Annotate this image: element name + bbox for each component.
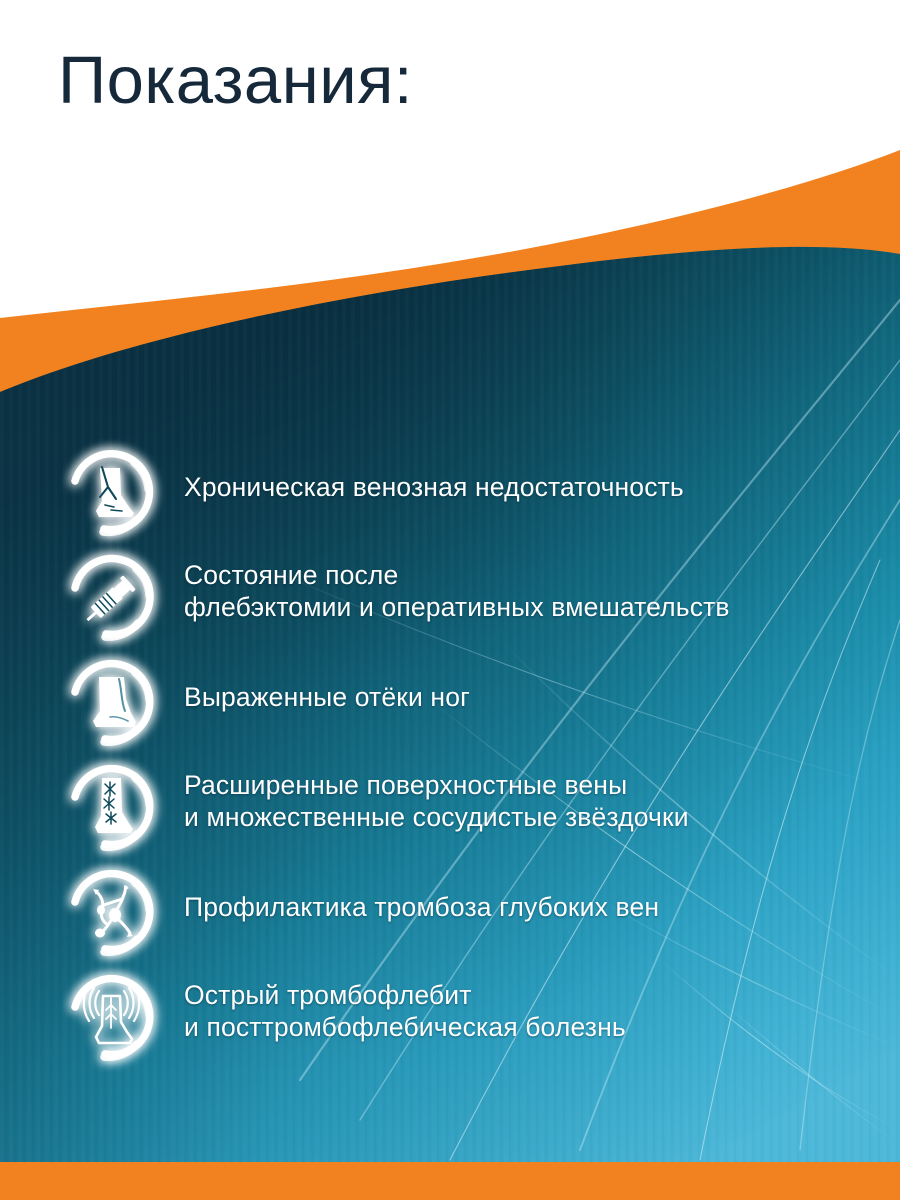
indication-line: Профилактика тромбоза глубоких вен: [184, 891, 884, 923]
leg-varicose-veins-icon-slot: [64, 440, 160, 536]
indication-line: и множественные сосудистые звёздочки: [184, 801, 884, 833]
vein-network-icon-slot: [64, 860, 160, 956]
list-item: Хроническая венозная недостаточность: [0, 440, 900, 545]
slide-root: Показания: Хроническая венозная недостат…: [0, 0, 900, 1200]
indication-text-5: Профилактика тромбоза глубоких вен: [184, 891, 884, 923]
leg-spider-veins-icon-slot: [64, 755, 160, 851]
leg-inflammation-waves-icon-slot: [64, 965, 160, 1061]
indication-text-4: Расширенные поверхностные вены и множест…: [184, 769, 884, 833]
indication-line: Расширенные поверхностные вены: [184, 769, 884, 801]
list-item: Острый тромбофлебит и посттромбофлебичес…: [0, 965, 900, 1070]
list-item: Выраженные отёки ног: [0, 650, 900, 755]
indications-list: Хроническая венозная недостаточность Сос…: [0, 440, 900, 1070]
list-item: Состояние после флебэктомии и оперативны…: [0, 545, 900, 650]
swollen-leg-icon-slot: [64, 650, 160, 746]
syringe-icon-slot: [64, 545, 160, 641]
indication-line: Состояние после: [184, 559, 884, 591]
indication-line: Острый тромбофлебит: [184, 979, 884, 1011]
indication-text-2: Состояние после флебэктомии и оперативны…: [184, 559, 884, 623]
indication-line: флебэктомии и оперативных вмешательств: [184, 591, 884, 623]
list-item: Расширенные поверхностные вены и множест…: [0, 755, 900, 860]
list-item: Профилактика тромбоза глубоких вен: [0, 860, 900, 965]
indication-line: и посттромбофлебическая болезнь: [184, 1011, 884, 1043]
footer-bar: [0, 1162, 900, 1200]
indication-text-1: Хроническая венозная недостаточность: [184, 471, 884, 503]
page-title: Показания:: [58, 46, 413, 116]
indication-text-6: Острый тромбофлебит и посттромбофлебичес…: [184, 979, 884, 1043]
indication-line: Хроническая венозная недостаточность: [184, 471, 884, 503]
indication-text-3: Выраженные отёки ног: [184, 681, 884, 713]
indication-line: Выраженные отёки ног: [184, 681, 884, 713]
